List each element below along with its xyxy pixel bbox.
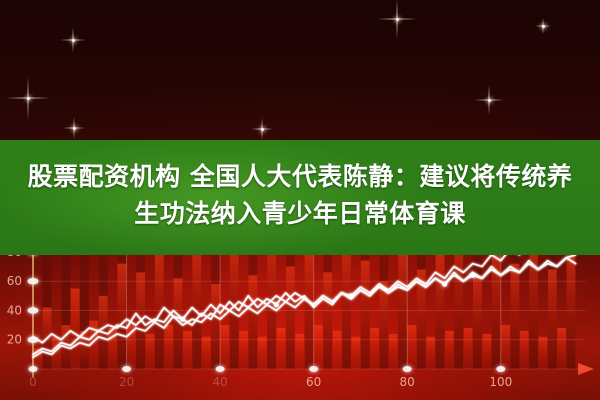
bar-series xyxy=(33,208,575,369)
bar xyxy=(473,275,482,369)
bar xyxy=(539,337,548,369)
bar xyxy=(258,337,267,369)
bar xyxy=(398,243,407,369)
bar xyxy=(323,272,332,369)
bar xyxy=(192,246,201,369)
bar xyxy=(239,331,248,369)
bar xyxy=(380,281,389,369)
bar xyxy=(445,331,454,369)
bar xyxy=(202,337,211,369)
x-tick-dot xyxy=(122,366,131,372)
y-axis-arrow xyxy=(27,150,39,168)
bar xyxy=(511,264,520,369)
bar xyxy=(118,264,127,369)
bar xyxy=(286,267,295,370)
bar xyxy=(164,325,173,369)
x-tick-dot xyxy=(29,366,38,372)
bar xyxy=(557,328,566,369)
bar xyxy=(492,246,501,369)
bar xyxy=(333,331,342,369)
line-marker xyxy=(180,317,185,322)
bar xyxy=(220,325,229,369)
bar xyxy=(529,237,538,369)
bar xyxy=(520,331,529,369)
x-tick-dot xyxy=(216,366,225,372)
bar xyxy=(548,270,557,370)
bar xyxy=(501,325,510,369)
bar xyxy=(305,249,314,369)
y-tick-label: 20 xyxy=(7,333,22,347)
y-tick-label: 100 xyxy=(0,216,22,230)
bar xyxy=(408,325,417,369)
line-marker xyxy=(349,293,354,298)
bar xyxy=(314,325,323,369)
line-marker xyxy=(470,273,475,278)
x-tick-label: 20 xyxy=(119,375,134,389)
stock-chart: 20406080100020406080100 xyxy=(0,0,600,400)
bar xyxy=(146,334,155,369)
bar xyxy=(342,240,351,369)
bar xyxy=(71,289,80,370)
bar xyxy=(249,275,258,369)
y-tick-label: 40 xyxy=(7,304,22,318)
line-marker xyxy=(274,302,279,307)
y-tick-label: 60 xyxy=(7,274,22,288)
bar xyxy=(436,255,445,369)
bar xyxy=(351,337,360,369)
bar xyxy=(426,337,435,369)
bar xyxy=(370,328,379,369)
x-tick-label: 60 xyxy=(306,375,321,389)
x-tick-dot xyxy=(403,366,412,372)
x-axis-arrow xyxy=(578,363,594,375)
bar xyxy=(183,331,192,369)
x-tick-dot xyxy=(496,366,505,372)
bar xyxy=(277,328,286,369)
x-tick-label: 40 xyxy=(212,375,227,389)
x-tick-label: 100 xyxy=(489,375,512,389)
bar xyxy=(482,334,491,369)
x-tick-label: 0 xyxy=(29,375,37,389)
bar xyxy=(389,334,398,369)
bar xyxy=(295,334,304,369)
bar xyxy=(454,234,463,369)
line-marker xyxy=(442,282,447,287)
x-tick-dot xyxy=(309,366,318,372)
bar xyxy=(361,261,370,369)
bar xyxy=(211,284,220,369)
x-tick-label: 80 xyxy=(400,375,415,389)
bar xyxy=(464,328,473,369)
promo-banner: 20406080100020406080100 股票配资机构 全国人大代表陈静：… xyxy=(0,0,600,400)
y-tick-label: 80 xyxy=(7,245,22,259)
